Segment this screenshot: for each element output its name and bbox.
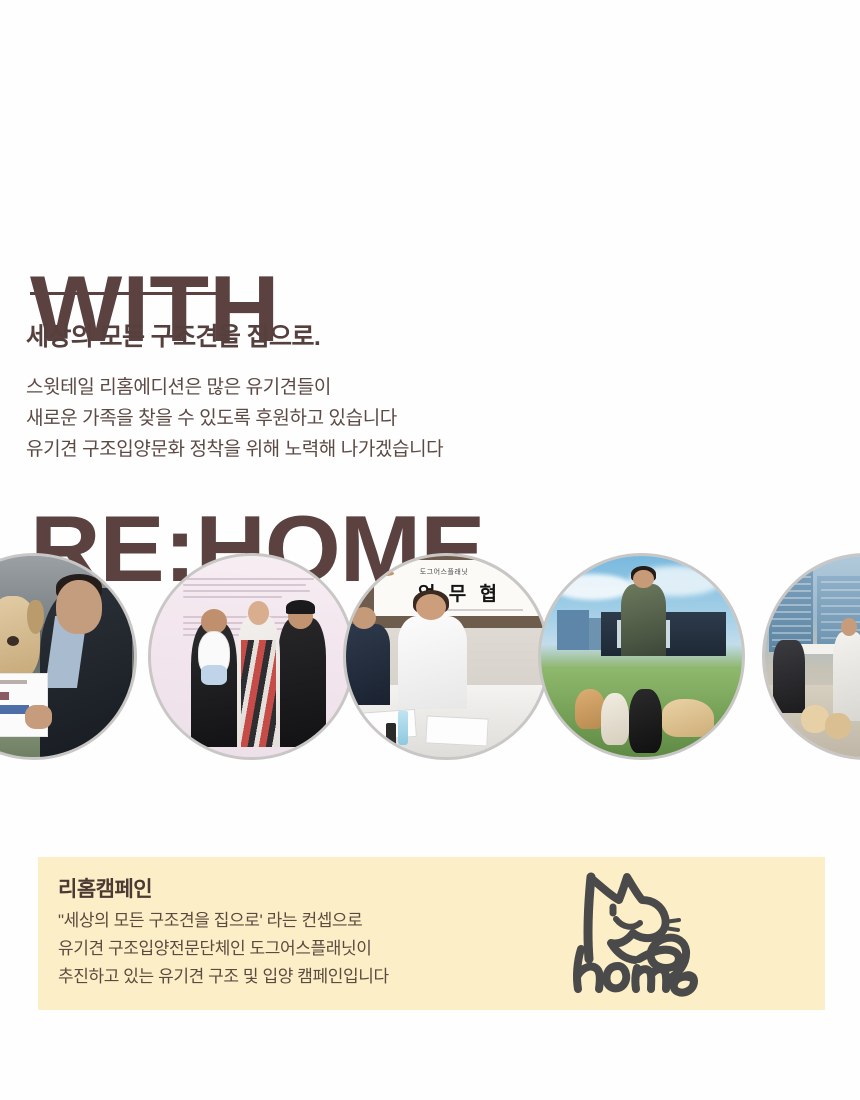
- campaign-description: "세상의 모든 구조견을 집으로' 라는 컨셉으로 유기견 구조입양전문단체인 …: [58, 907, 389, 991]
- campaign-description-line-1: "세상의 모든 구조견을 집으로' 라는 컨셉으로: [58, 907, 389, 935]
- photo-circle-mou-signing[interactable]: 도그어스플래닛 업 무 협: [343, 553, 550, 760]
- photo-circle-handover-ceremony[interactable]: [0, 553, 137, 760]
- hero-lead-text: 세상의 모든 구조견을 집으로.: [26, 320, 320, 354]
- hero-body-line-3: 유기견 구조입양문화 정착을 위해 노력해 나가겠습니다: [26, 434, 443, 465]
- photo-handover-ceremony-image: [0, 556, 134, 757]
- rehome-dog-logo: [561, 867, 731, 1002]
- photo-circle-rehome-edition-launch[interactable]: [148, 553, 355, 760]
- hero-body-line-1: 스윗테일 리홈에디션은 많은 유기견들이: [26, 372, 443, 403]
- page-root: WITH RE:HOME 세상의 모든 구조견을 집으로. 스윗테일 리홈에디션…: [0, 0, 860, 1100]
- photo-adoption-fair-image: [765, 556, 860, 757]
- photo-circle-rooftop-dog-park[interactable]: [538, 553, 745, 760]
- photo-rehome-edition-launch-image: [151, 556, 352, 757]
- hero-body-text: 스윗테일 리홈에디션은 많은 유기견들이 새로운 가족을 찾을 수 있도록 후원…: [26, 372, 443, 465]
- photo-rooftop-dog-park-image: [541, 556, 742, 757]
- photo-circle-adoption-fair[interactable]: [762, 553, 860, 760]
- photo-gallery-strip: 도그어스플래닛 업 무 협: [0, 553, 860, 767]
- hero-body-line-2: 새로운 가족을 찾을 수 있도록 후원하고 있습니다: [26, 403, 443, 434]
- mou-banner-subtitle: 도그어스플래닛: [420, 567, 469, 577]
- campaign-description-line-2: 유기견 구조입양전문단체인 도그어스플래닛이: [58, 935, 389, 963]
- photo-mou-signing-image: 도그어스플래닛 업 무 협: [346, 556, 547, 757]
- title-divider: [30, 292, 216, 295]
- campaign-card: 리홈캠페인 "세상의 모든 구조견을 집으로' 라는 컨셉으로 유기견 구조입양…: [38, 857, 825, 1010]
- campaign-title: 리홈캠페인: [58, 873, 152, 903]
- campaign-description-line-3: 추진하고 있는 유기견 구조 및 입양 캠페인입니다: [58, 963, 389, 991]
